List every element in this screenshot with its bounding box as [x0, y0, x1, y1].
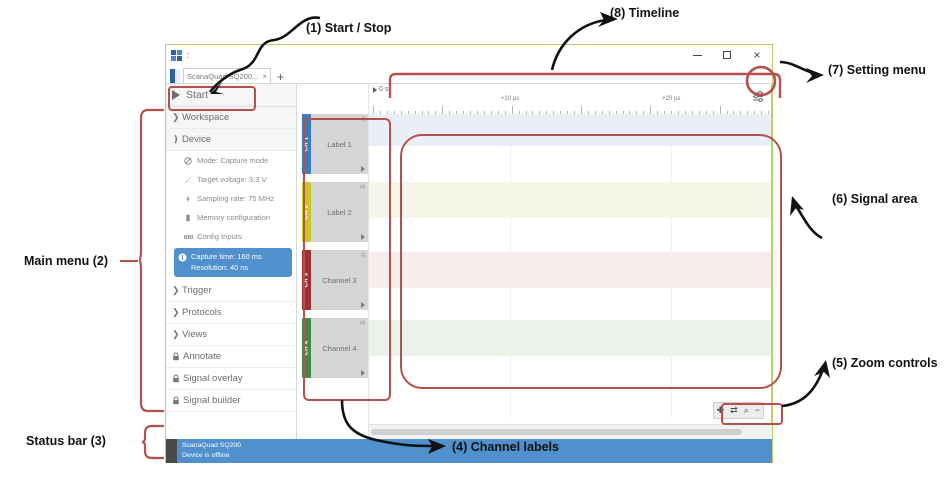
signal-lane-3[interactable] [369, 252, 772, 288]
close-icon: × [753, 49, 760, 61]
device-subitem-target-voltage[interactable]: Target voltage: 3.3 V [166, 170, 296, 189]
annotation-start-stop: (1) Start / Stop [306, 21, 391, 35]
timeline-zero-label: 0 s [379, 86, 388, 93]
channel-color-bar[interactable]: CH 3 [302, 250, 311, 310]
app-logo-icon [171, 50, 183, 61]
annotation-zoom-controls: (5) Zoom controls [832, 356, 938, 370]
signal-lanes [369, 114, 772, 417]
channel-labels-column: CH 1 0 Label 1 CH 2 H Label 2 [297, 84, 369, 439]
application-window: : × ScanaQuad SQ200... × + Start ❯ Works… [165, 44, 773, 463]
sidebar-item-annotate[interactable]: Annotate [166, 346, 296, 368]
zoom-out-icon[interactable]: − [755, 406, 760, 415]
channel-color-bar[interactable]: CH 2 [302, 182, 311, 242]
sidebar-item-label: Trigger [182, 285, 212, 296]
channel-body[interactable]: 0 Label 1 [311, 114, 368, 174]
channel-state-icon: H [360, 184, 365, 191]
device-subitem-label: Config Inputs [197, 232, 242, 241]
channel-label-2[interactable]: CH 2 H Label 2 [297, 182, 368, 242]
fit-width-icon[interactable]: ⇄ [730, 406, 738, 415]
mode-icon [182, 157, 194, 165]
zoom-icon[interactable]: ⌕ [744, 406, 749, 415]
status-device-name: ScanaQuad SQ200 [182, 441, 241, 451]
leader-main-menu [118, 256, 142, 266]
sidebar-item-label: Annotate [183, 351, 221, 362]
sidebar-item-signal-overlay[interactable]: Signal overlay [166, 368, 296, 390]
wrench-icon [182, 176, 194, 184]
capture-info-panel[interactable]: Capture time: 160 ms Resolution: 40 ns [174, 248, 292, 277]
channel-color-bar[interactable]: CH 4 [302, 318, 311, 378]
channel-body[interactable]: H Channel 4 [311, 318, 368, 378]
channel-output-icon[interactable] [361, 302, 365, 308]
device-subitem-config-inputs[interactable]: Config Inputs [166, 227, 296, 246]
device-subitem-label: Mode: Capture mode [197, 156, 268, 165]
device-subitem-label: Target voltage: 3.3 V [197, 175, 267, 184]
zoom-controls[interactable]: ✚ ⇄ ⌕ − [713, 402, 764, 419]
channel-state-icon: 0 [361, 116, 365, 123]
sidebar-item-workspace[interactable]: ❯ Workspace [166, 107, 296, 129]
cursor-line[interactable] [771, 84, 772, 439]
close-button[interactable]: × [742, 45, 772, 65]
leader-zoom-controls [780, 348, 838, 410]
signal-lane-4[interactable] [369, 320, 772, 356]
memory-icon [182, 214, 194, 222]
callout-status-bar-bracket [140, 424, 168, 460]
status-device-state: Device is offline [182, 451, 241, 461]
channel-label-3[interactable]: CH 3 0 Channel 3 [297, 250, 368, 310]
window-title: : [187, 50, 190, 60]
play-icon [172, 90, 180, 100]
channel-name: Label 1 [327, 140, 352, 149]
sidebar-item-label: Workspace [182, 112, 229, 123]
sidebar-item-label: Signal overlay [183, 373, 243, 384]
annotation-setting-menu: (7) Setting menu [828, 63, 926, 77]
annotation-channel-labels: (4) Channel labels [452, 440, 559, 454]
window-controls: × [682, 45, 772, 65]
channel-output-icon[interactable] [361, 370, 365, 376]
timeline-origin-marker[interactable]: 0 s [373, 86, 388, 93]
channel-state-icon: 0 [361, 252, 365, 259]
capture-time-label: Capture time: 160 ms [191, 252, 262, 261]
bolt-icon [182, 195, 194, 203]
sidebar-item-label: Signal builder [183, 395, 241, 406]
resolution-label: Resolution: 40 ns [191, 263, 248, 272]
leader-setting-menu [778, 58, 826, 84]
callout-main-menu-bracket [138, 108, 168, 413]
document-icon [170, 69, 180, 83]
chevron-right-icon: ❯ [172, 285, 182, 296]
callout-setting-menu [744, 64, 778, 98]
device-subitem-sampling-rate[interactable]: Sampling rate: 75 MHz [166, 189, 296, 208]
main-menu-sidebar: Start ❯ Workspace ❫ Device Mode: Capture… [166, 84, 297, 439]
channel-body[interactable]: 0 Channel 3 [311, 250, 368, 310]
minimize-button[interactable] [682, 45, 712, 65]
leader-channel-labels [336, 398, 458, 458]
lock-icon [172, 374, 182, 383]
channel-state-icon: H [360, 320, 365, 327]
channel-color-bar[interactable]: CH 1 [302, 114, 311, 174]
sidebar-item-device[interactable]: ❫ Device [166, 129, 296, 151]
channel-name: Channel 3 [322, 276, 356, 285]
channel-output-icon[interactable] [361, 166, 365, 172]
info-icon [178, 253, 187, 266]
device-subitem-memory-configuration[interactable]: Memory configuration [166, 208, 296, 227]
sidebar-item-label: Device [182, 134, 211, 145]
maximize-button[interactable] [712, 45, 742, 65]
origin-triangle-icon [373, 87, 377, 93]
channel-name: Label 2 [327, 208, 352, 217]
channel-id: CH 1 [304, 137, 310, 152]
channel-output-icon[interactable] [361, 234, 365, 240]
device-subitem-label: Memory configuration [197, 213, 270, 222]
signal-lane-2[interactable] [369, 182, 772, 218]
annotation-status-bar: Status bar (3) [26, 434, 106, 448]
sidebar-item-views[interactable]: ❯ Views [166, 324, 296, 346]
chevron-right-icon: ❯ [172, 307, 182, 318]
device-subitem-label: Sampling rate: 75 MHz [197, 194, 274, 203]
inputs-icon [182, 233, 194, 241]
pan-icon[interactable]: ✚ [717, 406, 725, 415]
annotation-main-menu: Main menu (2) [24, 254, 108, 268]
annotation-timeline: (8) Timeline [610, 6, 679, 20]
channel-label-4[interactable]: CH 4 H Channel 4 [297, 318, 368, 378]
lock-icon [172, 396, 182, 405]
channel-label-1[interactable]: CH 1 0 Label 1 [297, 114, 368, 174]
lock-icon [172, 352, 182, 361]
timeline-ticks [369, 104, 772, 114]
leader-signal-area [770, 188, 826, 246]
sidebar-item-label: Views [182, 329, 207, 340]
annotation-signal-area: (6) Signal area [832, 192, 917, 206]
signal-lane-1[interactable] [369, 114, 772, 146]
signal-area[interactable]: 0 s +10 µs +20 µs [369, 84, 772, 439]
channel-id: CH 4 [304, 341, 310, 356]
chevron-down-icon: ❫ [172, 134, 182, 145]
sidebar-item-trigger[interactable]: ❯ Trigger [166, 280, 296, 302]
device-subitem-mode[interactable]: Mode: Capture mode [166, 151, 296, 170]
callout-timeline [388, 72, 788, 100]
sidebar-item-label: Protocols [182, 307, 222, 318]
chevron-right-icon: ❯ [172, 329, 182, 340]
channel-id: CH 3 [304, 273, 310, 288]
sidebar-item-protocols[interactable]: ❯ Protocols [166, 302, 296, 324]
chevron-right-icon: ❯ [172, 112, 182, 123]
channel-id: CH 2 [304, 205, 310, 220]
channel-name: Channel 4 [322, 344, 356, 353]
channel-body[interactable]: H Label 2 [311, 182, 368, 242]
sidebar-item-signal-builder[interactable]: Signal builder [166, 390, 296, 412]
